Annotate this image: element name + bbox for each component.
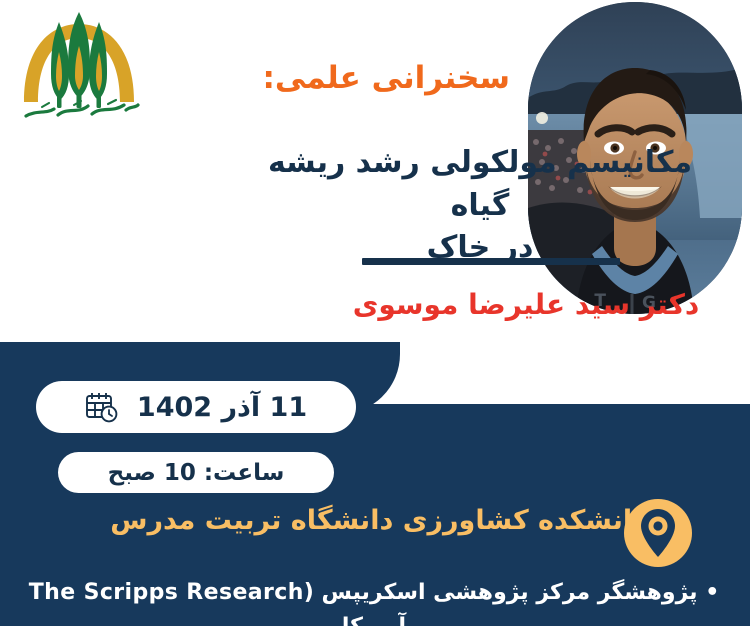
bio-line-1: • پژوهشگر مرکز پژوهشی اسکریپس (The Scrip…: [18, 576, 730, 610]
title-line-1: مکانیسم مولکولی رشد ریشه گیاه: [238, 142, 722, 227]
seminar-poster: T G سخنرانی علمی: مکانیسم مولکولی رشد ری…: [0, 0, 750, 626]
calendar-clock-icon: [85, 391, 119, 423]
speaker-bio: • پژوهشگر مرکز پژوهشی اسکریپس (The Scrip…: [18, 576, 730, 626]
date-pill: 11 آذر 1402: [36, 381, 356, 433]
bio-line-2: آمریکا: [18, 610, 730, 626]
speaker-name: دکتر سید علیرضا موسوی: [348, 288, 704, 321]
time-pill: ساعت: 10 صبح: [58, 452, 334, 493]
page-title: مکانیسم مولکولی رشد ریشه گیاه در خاک: [238, 142, 722, 270]
date-label: 11 آذر 1402: [137, 392, 307, 423]
location-pin-icon: [622, 497, 694, 569]
title-divider: [362, 258, 620, 265]
kicker-label: سخنرانی علمی:: [262, 60, 510, 96]
venue-label: دانشکده کشاورزی دانشگاه تربیت مدرس: [110, 505, 646, 536]
time-label: ساعت: 10 صبح: [108, 460, 285, 486]
university-logo: [16, 6, 142, 122]
